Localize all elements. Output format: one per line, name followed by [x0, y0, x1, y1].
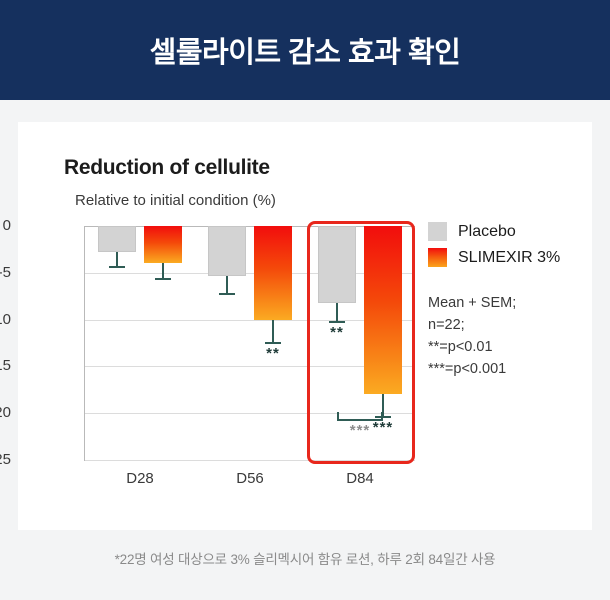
- bar-D84-slimexir: [364, 226, 402, 394]
- y-axis-tick-label: -15: [0, 357, 11, 374]
- stats-note-line: **=p<0.01: [428, 336, 516, 358]
- x-axis-tick-label: D84: [305, 470, 415, 487]
- legend-swatch-icon: [428, 222, 447, 241]
- x-axis-tick-label: D28: [85, 470, 195, 487]
- comparison-bracket-label: ***: [350, 422, 371, 439]
- x-axis-tick-label: D56: [195, 470, 305, 487]
- error-bar: [336, 303, 338, 322]
- error-bar: [162, 263, 164, 278]
- stats-note-line: Mean + SEM;: [428, 292, 516, 314]
- significance-label: **: [330, 324, 344, 341]
- significance-label: ***: [373, 419, 394, 436]
- chart-plot-area: 0-5-10-15-20-25D28D56**D84********: [84, 226, 415, 461]
- chart-title: Reduction of cellulite: [64, 156, 270, 180]
- legend-item-placebo: Placebo: [428, 222, 560, 241]
- chart-legend: PlaceboSLIMEXIR 3%: [428, 222, 560, 274]
- legend-item-slimexir: SLIMEXIR 3%: [428, 248, 560, 267]
- header-banner: 셀룰라이트 감소 효과 확인: [0, 0, 610, 100]
- y-axis-tick-label: -10: [0, 311, 11, 328]
- error-bar-cap: [329, 321, 345, 323]
- y-axis-tick-label: -5: [0, 264, 11, 281]
- footer-note: *22명 여성 대상으로 3% 슬리멕시어 함유 로션, 하루 2회 84일간 …: [0, 548, 610, 568]
- error-bar-cap: [155, 278, 171, 280]
- y-axis-tick-label: -25: [0, 451, 11, 468]
- error-bar-cap: [219, 293, 235, 295]
- error-bar: [116, 252, 118, 266]
- y-axis-tick-label: 0: [0, 217, 11, 234]
- error-bar: [272, 320, 274, 342]
- stats-note-line: ***=p<0.001: [428, 358, 516, 380]
- bar-D84-placebo: [318, 226, 356, 303]
- gridline: [85, 460, 415, 461]
- error-bar-cap: [109, 266, 125, 268]
- comparison-bracket: [337, 412, 383, 421]
- bar-D56-slimexir: [254, 226, 292, 320]
- chart-card: Reduction of cellulite Relative to initi…: [18, 122, 592, 530]
- error-bar: [226, 276, 228, 294]
- bar-D28-slimexir: [144, 226, 182, 263]
- legend-item-label: Placebo: [458, 223, 516, 241]
- stats-note: Mean + SEM;n=22;**=p<0.01***=p<0.001: [428, 292, 516, 380]
- page-root: 셀룰라이트 감소 효과 확인 Reduction of cellulite Re…: [0, 0, 610, 600]
- bar-D28-placebo: [98, 226, 136, 252]
- legend-item-label: SLIMEXIR 3%: [458, 249, 560, 267]
- page-title: 셀룰라이트 감소 효과 확인: [150, 29, 461, 71]
- bar-D56-placebo: [208, 226, 246, 276]
- legend-swatch-icon: [428, 248, 447, 267]
- y-axis-tick-label: -20: [0, 404, 11, 421]
- stats-note-line: n=22;: [428, 314, 516, 336]
- significance-label: **: [266, 345, 280, 362]
- error-bar-cap: [265, 342, 281, 344]
- chart-subtitle: Relative to initial condition (%): [75, 192, 276, 209]
